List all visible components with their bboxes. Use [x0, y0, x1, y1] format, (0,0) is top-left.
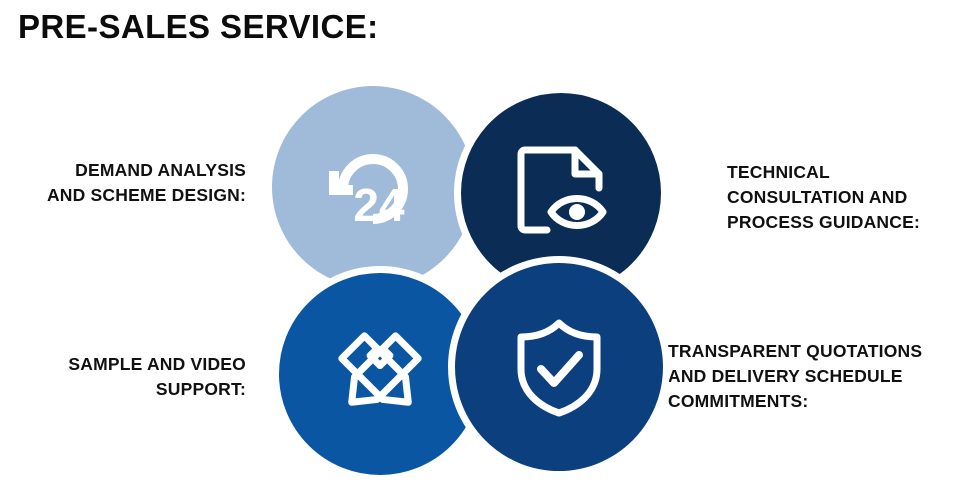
- label-technical-line-2: CONSULTATION AND: [727, 185, 920, 210]
- label-demand-line-2: AND SCHEME DESIGN:: [47, 183, 246, 208]
- crossed-pens-icon: [330, 324, 430, 424]
- label-transparent-quotations: TRANSPARENT QUOTATIONS AND DELIVERY SCHE…: [668, 339, 922, 414]
- label-transparent-line-3: COMMITMENTS:: [668, 389, 922, 414]
- infographic-canvas: PRE-SALES SERVICE: 24: [0, 0, 960, 498]
- label-transparent-line-2: AND DELIVERY SCHEDULE: [668, 364, 922, 389]
- icon-wrap-demand: 24: [272, 86, 474, 288]
- document-eye-icon: [513, 144, 609, 242]
- node-transparent-quotations[interactable]: [448, 256, 670, 478]
- label-sample-video-support: SAMPLE AND VIDEO SUPPORT:: [68, 352, 246, 402]
- clock-24-refresh-icon: 24: [321, 137, 425, 237]
- icon-wrap-transparent: [455, 263, 663, 471]
- label-demand-analysis: DEMAND ANALYSIS AND SCHEME DESIGN:: [47, 158, 246, 208]
- page-title: PRE-SALES SERVICE:: [18, 8, 379, 46]
- label-demand-line-1: DEMAND ANALYSIS: [47, 158, 246, 183]
- label-sample-line-2: SUPPORT:: [68, 377, 246, 402]
- label-transparent-line-1: TRANSPARENT QUOTATIONS: [668, 339, 922, 364]
- circle-cluster: 24: [268, 82, 672, 482]
- label-technical-line-3: PROCESS GUIDANCE:: [727, 210, 920, 235]
- label-sample-line-1: SAMPLE AND VIDEO: [68, 352, 246, 377]
- label-technical-consultation: TECHNICAL CONSULTATION AND PROCESS GUIDA…: [727, 160, 920, 235]
- shield-check-icon: [513, 317, 605, 417]
- node-demand-analysis[interactable]: 24: [272, 86, 474, 288]
- label-technical-line-1: TECHNICAL: [727, 160, 920, 185]
- demand-badge-text: 24: [353, 179, 405, 231]
